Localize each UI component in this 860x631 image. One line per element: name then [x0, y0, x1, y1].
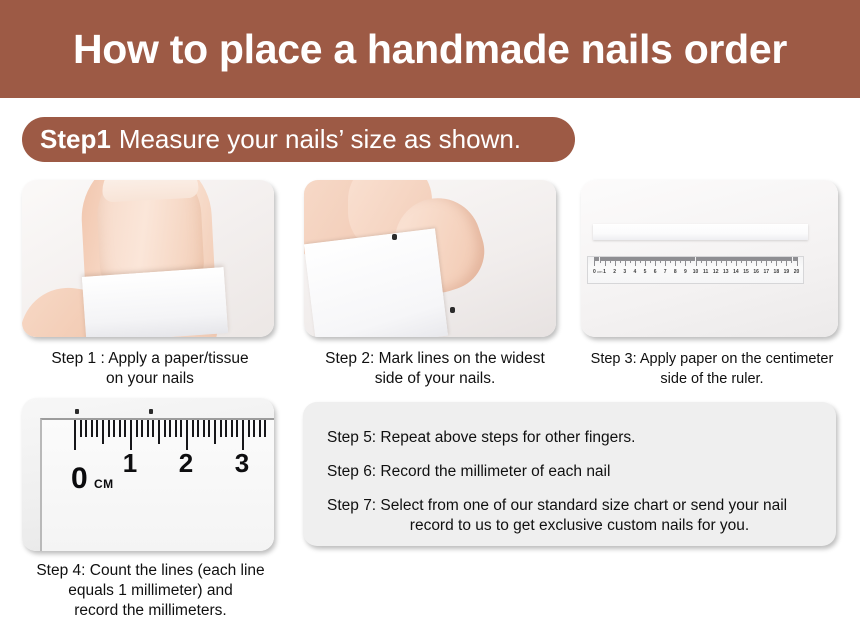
ruler-closeup-photo: 123 0 CM — [22, 398, 274, 551]
ruler-closeup-number: 1 — [123, 450, 137, 476]
wide-ruler-number: 15 — [743, 269, 749, 275]
wide-ruler-number: 17 — [763, 269, 769, 275]
caption-step1-line2: on your nails — [10, 369, 290, 389]
measure-mark-left-icon — [75, 409, 79, 414]
wide-ruler-number: 12 — [713, 269, 719, 275]
photo-card-step2 — [304, 180, 556, 337]
paper-strip — [593, 224, 808, 240]
wide-ruler-number: 16 — [753, 269, 759, 275]
wide-ruler-number: 11 — [703, 269, 708, 275]
wide-ruler-number: 2 — [613, 269, 616, 275]
wide-ruler-number: 18 — [774, 269, 780, 275]
wide-ruler-number: 10 — [693, 269, 699, 275]
wide-ruler-number: 20 — [794, 269, 800, 275]
step1-badge-description: Measure your nails’ size as shown. — [119, 124, 521, 155]
ruler-closeup-number: 3 — [235, 450, 249, 476]
fingertip-with-tissue-photo — [22, 180, 274, 337]
wide-ruler-number: 5 — [644, 269, 647, 275]
wide-ruler-number: 14 — [733, 269, 739, 275]
paper-on-ruler-photo: 01234567891011121314151617181920cm — [581, 180, 838, 337]
wide-ruler-number: 7 — [664, 269, 667, 275]
wide-ruler-number: 9 — [684, 269, 687, 275]
page-title: How to place a handmade nails order — [73, 29, 787, 70]
wide-ruler-number: 0 — [593, 269, 596, 275]
photo-card-step4: 123 0 CM — [22, 398, 274, 551]
pencil-mark-top-icon — [392, 234, 397, 240]
ruler-unit-label: CM — [94, 477, 114, 491]
caption-step3-line1: Step 3: Apply paper on the centimeter — [572, 349, 852, 369]
wide-ruler-number: 19 — [784, 269, 790, 275]
caption-step3: Step 3: Apply paper on the centimeter si… — [572, 349, 852, 389]
panel-step5: Step 5: Repeat above steps for other fin… — [327, 428, 814, 448]
steps-5-7-panel: Step 5: Repeat above steps for other fin… — [303, 402, 836, 546]
caption-step1: Step 1 : Apply a paper/tissue on your na… — [10, 349, 290, 389]
panel-step6: Step 6: Record the millimeter of each na… — [327, 462, 814, 482]
wide-ruler-number: 8 — [674, 269, 677, 275]
wide-ruler-number: 4 — [633, 269, 636, 275]
fingers-marking-paper-photo — [304, 180, 556, 337]
panel-step7-line2: record to us to get exclusive custom nai… — [327, 516, 814, 536]
caption-step2-line1: Step 2: Mark lines on the widest — [295, 349, 575, 369]
wide-ruler-number: 13 — [723, 269, 729, 275]
panel-step7: Step 7: Select from one of our standard … — [327, 496, 814, 536]
header-banner: How to place a handmade nails order — [0, 0, 860, 98]
caption-step4-line3: record the millimeters. — [8, 601, 293, 621]
photo-card-step1 — [22, 180, 274, 337]
caption-step3-line2: side of the ruler. — [572, 369, 852, 389]
ruler-zero-label: 0 — [71, 464, 88, 494]
wide-ruler-number: 1 — [603, 269, 606, 275]
caption-step1-line1: Step 1 : Apply a paper/tissue — [10, 349, 290, 369]
wide-ruler-unit-label: cm — [597, 269, 602, 274]
step1-badge-label: Step1 — [40, 124, 111, 155]
photo-card-step3: 01234567891011121314151617181920cm — [581, 180, 838, 337]
panel-step7-line1: Step 7: Select from one of our standard … — [327, 497, 787, 514]
pencil-mark-bottom-icon — [450, 307, 455, 313]
caption-step4-line1: Step 4: Count the lines (each line — [8, 561, 293, 581]
caption-step2: Step 2: Mark lines on the widest side of… — [295, 349, 575, 389]
measure-mark-right-icon — [149, 409, 153, 414]
wide-ruler-number: 6 — [654, 269, 657, 275]
wide-ruler-number: 3 — [623, 269, 626, 275]
step1-badge: Step1 Measure your nails’ size as shown. — [22, 117, 575, 162]
caption-step2-line2: side of your nails. — [295, 369, 575, 389]
caption-step4: Step 4: Count the lines (each line equal… — [8, 561, 293, 621]
ruler-closeup-number: 2 — [179, 450, 193, 476]
wide-ruler: 01234567891011121314151617181920cm — [587, 256, 804, 284]
caption-step4-line2: equals 1 millimeter) and — [8, 581, 293, 601]
